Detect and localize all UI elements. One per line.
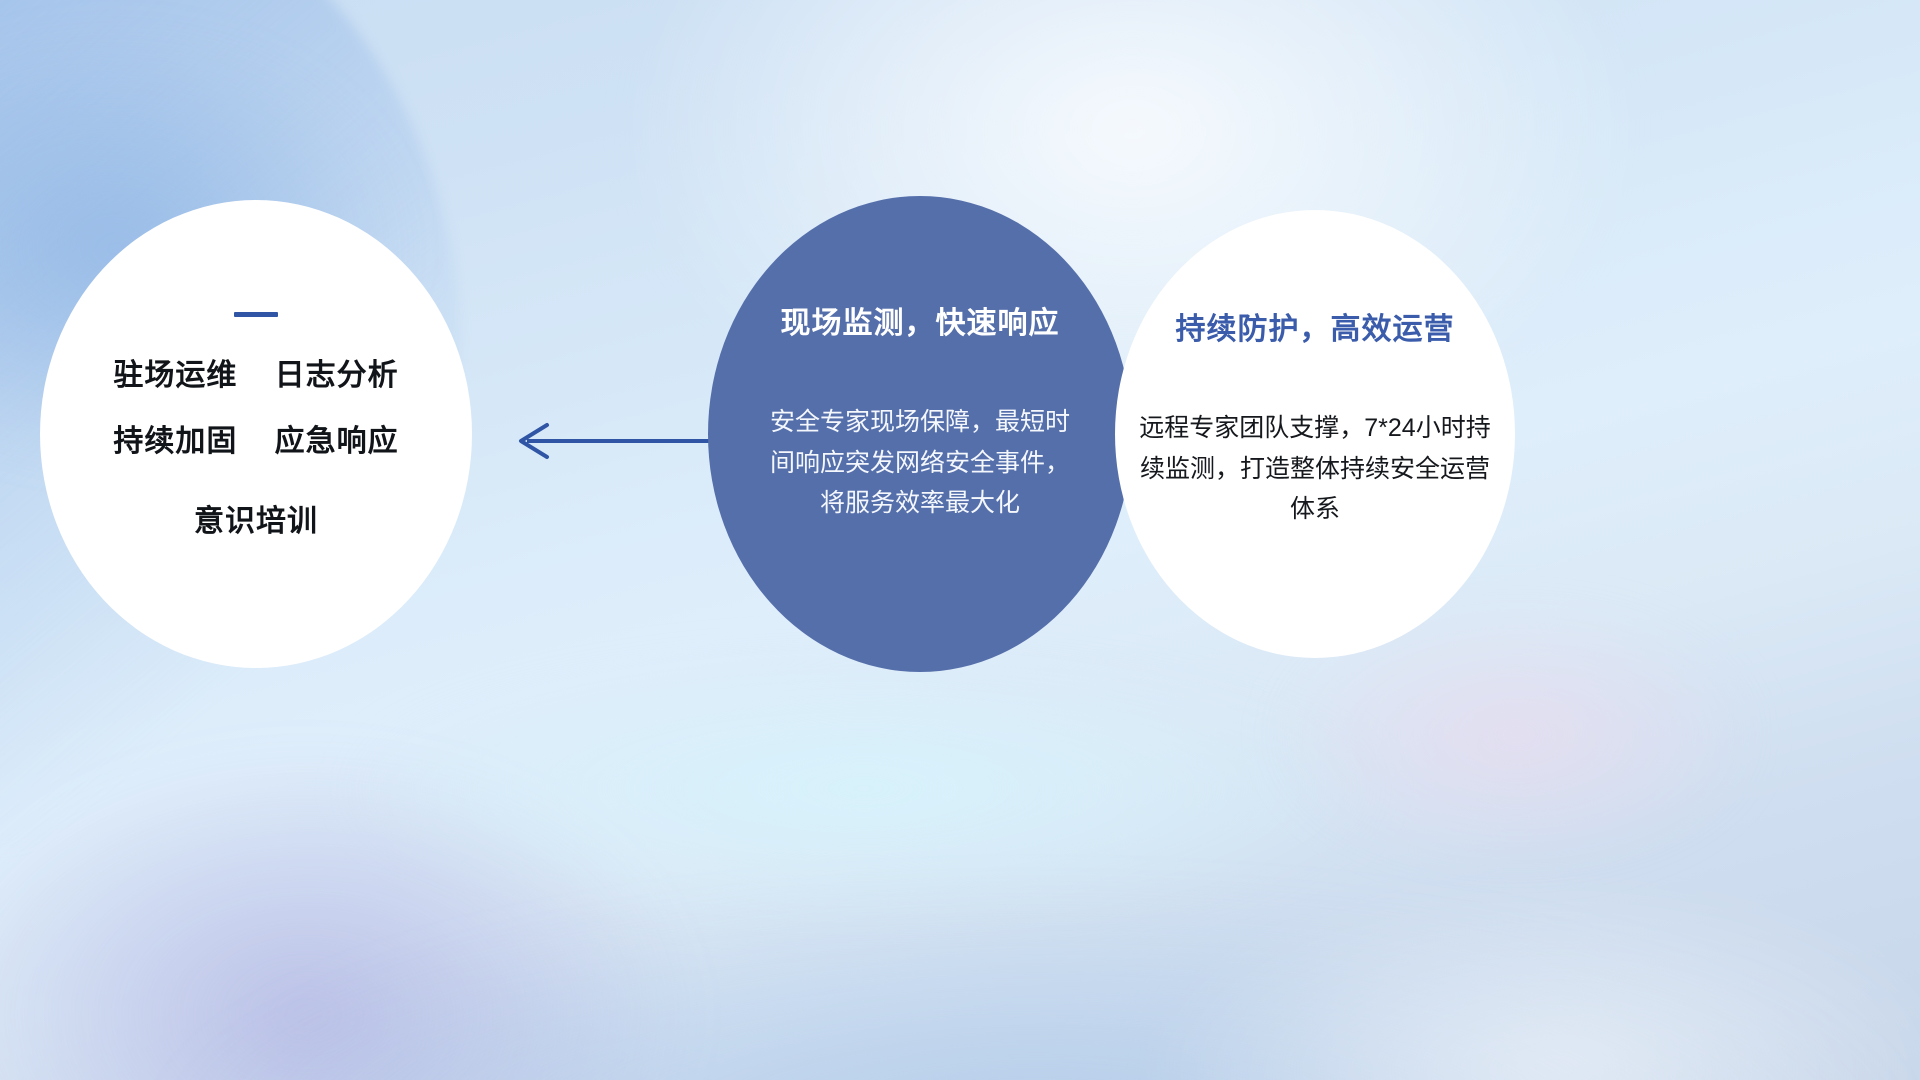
capability-line-3: 意识培训 [194,507,318,537]
continuous-protection-body: 远程专家团队支撑，7*24小时持续监测，打造整体持续安全运营体系 [1139,408,1491,530]
continuous-protection-title: 持续防护，高效运营 [1176,304,1455,348]
divider-dash [234,312,278,317]
circle-continuous-protection: 持续防护，高效运营 远程专家团队支撑，7*24小时持续监测，打造整体持续安全运营… [1115,210,1515,658]
onsite-monitoring-body: 安全专家现场保障，最短时间响应突发网络安全事件，将服务效率最大化 [770,402,1070,524]
capability-line-2: 持续加固 应急响应 [113,427,398,457]
slide-canvas: 驻场运维 日志分析 持续加固 应急响应 意识培训 现场监测，快速响应 安全专家现… [0,0,1920,1080]
circle-onsite-monitoring: 现场监测，快速响应 安全专家现场保障，最短时间响应突发网络安全事件，将服务效率最… [708,196,1132,672]
circle-capabilities: 驻场运维 日志分析 持续加固 应急响应 意识培训 [40,200,472,668]
capability-line-1: 驻场运维 日志分析 [113,361,398,391]
onsite-monitoring-title: 现场监测，快速响应 [781,298,1060,342]
